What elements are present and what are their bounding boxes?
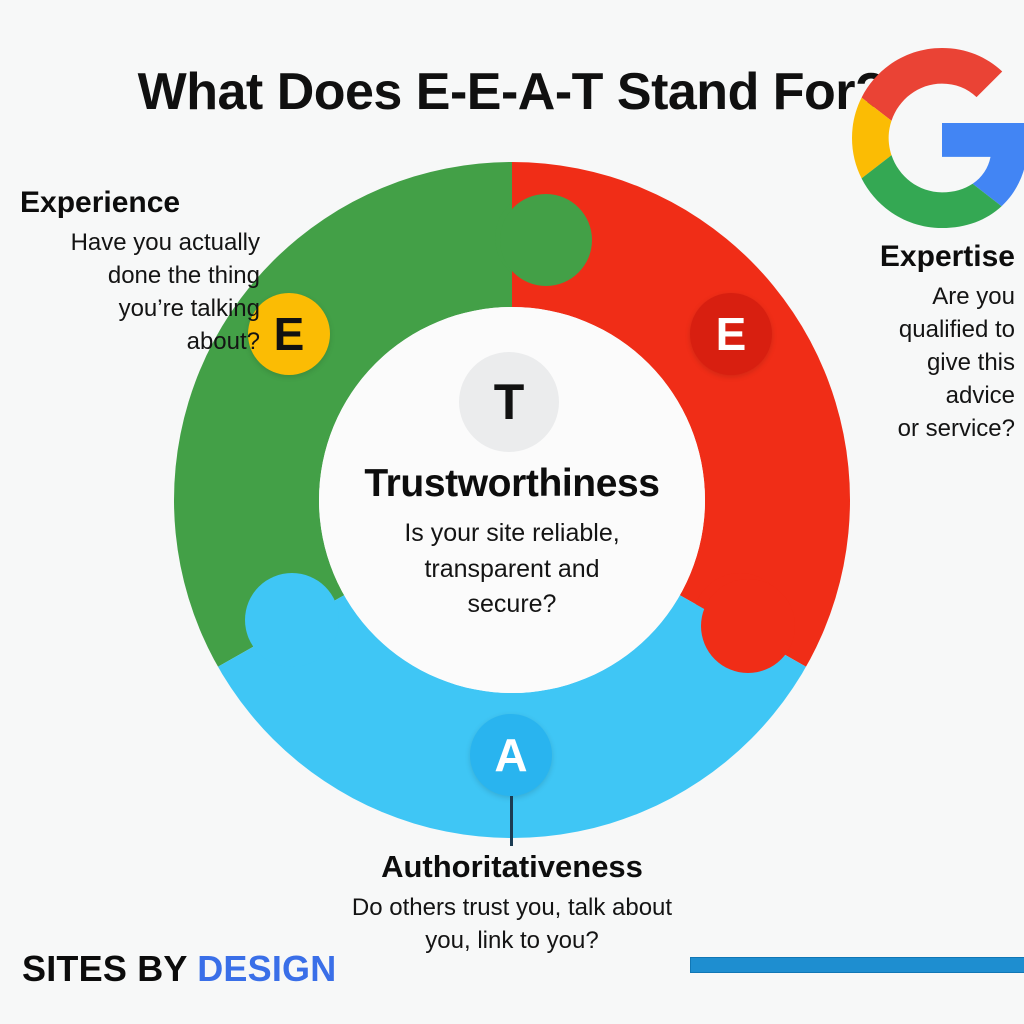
label-expertise: Expertise Are you qualified to give this…	[800, 240, 1015, 445]
trustworthiness-body-line-2: transparent and	[312, 552, 712, 588]
experience-body-line-3: you’re talking	[20, 292, 260, 325]
footer-brand-logo[interactable]: SITES BY DESIGN	[22, 948, 336, 990]
expertise-body-line-5: or service?	[800, 412, 1015, 445]
badge-trustworthiness[interactable]: T	[459, 352, 559, 452]
trustworthiness-heading: Trustworthiness	[312, 462, 712, 506]
authoritativeness-body: Do others trust you, talk about you, lin…	[262, 891, 762, 957]
expertise-body-line-1: Are you	[800, 280, 1015, 313]
footer-accent-bar	[690, 957, 1024, 973]
footer-brand-part2: DESIGN	[197, 948, 336, 989]
badge-trustworthiness-letter: T	[494, 373, 525, 431]
expertise-heading: Expertise	[800, 240, 1015, 274]
experience-heading: Experience	[20, 186, 260, 220]
badge-experience-letter: E	[274, 307, 305, 361]
label-experience: Experience Have you actually done the th…	[20, 186, 260, 358]
trustworthiness-body-line-3: secure?	[312, 587, 712, 623]
puzzle-tab-green	[500, 194, 592, 286]
center-text-block: Trustworthiness Is your site reliable, t…	[312, 462, 712, 623]
authoritativeness-heading: Authoritativeness	[262, 850, 762, 885]
badge-experience[interactable]: E	[248, 293, 330, 375]
badge-expertise-letter: E	[716, 307, 747, 361]
trustworthiness-body: Is your site reliable, transparent and s…	[312, 516, 712, 623]
authoritativeness-body-line-2: you, link to you?	[262, 924, 762, 957]
experience-body-line-4: about?	[20, 325, 260, 358]
trustworthiness-body-line-1: Is your site reliable,	[312, 516, 712, 552]
infographic-canvas: What Does E-E-A-T Stand For?	[0, 0, 1024, 1024]
expertise-body-line-3: give this	[800, 346, 1015, 379]
expertise-body-line-4: advice	[800, 379, 1015, 412]
footer-brand-part1: SITES BY	[22, 948, 197, 989]
badge-expertise[interactable]: E	[690, 293, 772, 375]
authoritativeness-body-line-1: Do others trust you, talk about	[262, 891, 762, 924]
badge-authoritativeness-letter: A	[494, 728, 527, 782]
badge-authoritativeness[interactable]: A	[470, 714, 552, 796]
experience-body-line-2: done the thing	[20, 259, 260, 292]
expertise-body: Are you qualified to give this advice or…	[800, 280, 1015, 446]
expertise-body-line-2: qualified to	[800, 313, 1015, 346]
experience-body-line-1: Have you actually	[20, 226, 260, 259]
connector-line-authoritativeness	[510, 796, 513, 846]
experience-body: Have you actually done the thing you’re …	[20, 226, 260, 358]
label-authoritativeness: Authoritativeness Do others trust you, t…	[262, 850, 762, 957]
